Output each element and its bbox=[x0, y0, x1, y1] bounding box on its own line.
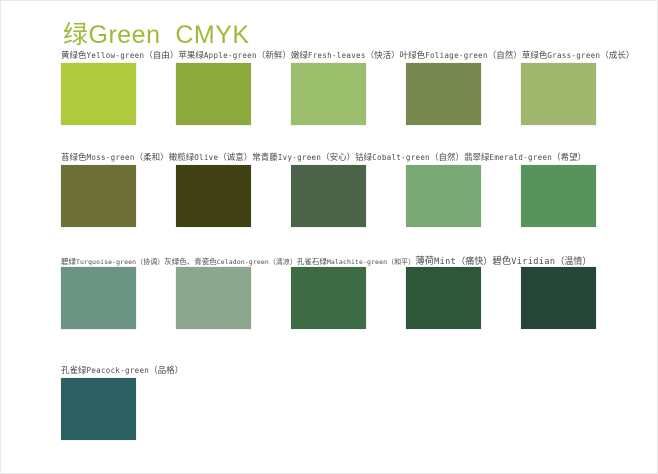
color-keyword: （自由） bbox=[144, 51, 178, 61]
color-keyword: （快活） bbox=[366, 51, 400, 61]
color-swatch[interactable] bbox=[61, 63, 136, 125]
color-keyword: （痛快） bbox=[456, 257, 492, 267]
color-name-en: Foliage-green bbox=[425, 51, 488, 60]
palette-row-labels: 孔雀绿Peacock-green（品格） bbox=[61, 364, 183, 378]
color-swatch[interactable] bbox=[291, 165, 366, 227]
color-label: 翡翠绿Emerald-green（希望） bbox=[464, 151, 586, 163]
color-swatch[interactable] bbox=[521, 63, 596, 125]
color-swatch[interactable] bbox=[291, 63, 366, 125]
color-keyword: （品格） bbox=[149, 366, 183, 376]
color-swatch[interactable] bbox=[61, 378, 136, 440]
color-keyword: （安心） bbox=[321, 153, 355, 163]
color-keyword: （新鲜） bbox=[257, 51, 291, 61]
palette-row-labels: 苔绿色Moss-green（柔和）橄榄绿Olive（诚意）常青藤Ivy-gree… bbox=[61, 151, 586, 165]
color-label: 黄绿色Yellow-green（自由） bbox=[61, 49, 178, 61]
palette-row-labels: 黄绿色Yellow-green（自由）苹果绿Apple-green（新鲜）嫩绿F… bbox=[61, 49, 634, 63]
color-label: 橄榄绿Olive（诚意） bbox=[169, 151, 253, 163]
color-name-cn: 嫩绿 bbox=[291, 51, 308, 61]
color-name-cn: 碧色 bbox=[492, 256, 511, 267]
color-keyword: （诚意） bbox=[218, 153, 252, 163]
color-name-en: Emerald-green bbox=[490, 153, 553, 162]
color-name-cn: 橄榄绿 bbox=[169, 153, 195, 163]
color-keyword: （和平） bbox=[387, 258, 415, 266]
color-name-cn: 叶绿色 bbox=[400, 51, 426, 61]
color-swatch[interactable] bbox=[176, 63, 251, 125]
color-keyword: （成长） bbox=[600, 51, 634, 61]
color-label: 常青藤Ivy-green（安心） bbox=[252, 151, 355, 163]
color-label: 孔雀石绿Malachite-green（和平） bbox=[297, 256, 415, 267]
color-label: 草绿色Grass-green（成长） bbox=[522, 49, 635, 61]
color-name-cn: 苔绿色 bbox=[61, 153, 87, 163]
palette-row-swatches bbox=[61, 165, 641, 227]
color-keyword: （希望） bbox=[552, 153, 586, 163]
color-swatch[interactable] bbox=[406, 267, 481, 329]
color-name-cn: 灰绿色、青瓷色 bbox=[164, 257, 217, 266]
color-name-cn: 碧绿 bbox=[61, 257, 76, 266]
color-name-en: Malachite-green bbox=[327, 258, 387, 266]
color-label: 苔绿色Moss-green（柔和） bbox=[61, 151, 169, 163]
color-keyword: （温情） bbox=[555, 257, 591, 267]
color-keyword: （自然） bbox=[488, 51, 522, 61]
color-swatch[interactable] bbox=[521, 267, 596, 329]
color-name-en: Yellow-green bbox=[87, 51, 145, 60]
palette-row-labels: 碧绿Turquoise-green（协调）灰绿色、青瓷色Celadon-gree… bbox=[61, 253, 591, 267]
color-label: 灰绿色、青瓷色Celadon-green（清凉） bbox=[164, 256, 297, 267]
color-name-en: Moss-green bbox=[87, 153, 135, 162]
color-name-cn: 薄荷 bbox=[415, 256, 434, 267]
color-name-en: Grass-green bbox=[547, 51, 600, 60]
color-swatch[interactable] bbox=[406, 165, 481, 227]
color-label: 嫩绿Fresh-leaves（快活） bbox=[291, 49, 400, 61]
color-swatch[interactable] bbox=[406, 63, 481, 125]
color-name-cn: 翡翠绿 bbox=[464, 153, 490, 163]
color-label: 苹果绿Apple-green（新鲜） bbox=[178, 49, 291, 61]
color-swatch[interactable] bbox=[61, 267, 136, 329]
color-name-en: Olive bbox=[194, 153, 218, 162]
palette-row-swatches bbox=[61, 267, 641, 329]
color-name-cn: 孔雀石绿 bbox=[297, 257, 327, 266]
palette-row-swatches bbox=[61, 63, 641, 125]
color-keyword: （柔和） bbox=[135, 153, 169, 163]
color-name-en: Apple-green bbox=[204, 51, 257, 60]
color-name-en: Mint bbox=[434, 257, 456, 267]
color-name-cn: 孔雀绿 bbox=[61, 366, 87, 376]
color-name-cn: 常青藤 bbox=[252, 153, 278, 163]
color-name-en: Fresh-leaves bbox=[308, 51, 366, 60]
color-label: 叶绿色Foliage-green（自然） bbox=[400, 49, 522, 61]
color-name-cn: 草绿色 bbox=[522, 51, 548, 61]
color-label: 碧绿Turquoise-green（协调） bbox=[61, 256, 164, 267]
color-name-en: Turquoise-green bbox=[76, 258, 136, 266]
color-name-cn: 苹果绿 bbox=[178, 51, 204, 61]
color-swatch[interactable] bbox=[61, 165, 136, 227]
color-name-en: Peacock-green bbox=[87, 366, 150, 375]
color-swatch[interactable] bbox=[176, 267, 251, 329]
color-name-en: Cobalt-green bbox=[372, 153, 430, 162]
color-label: 薄荷Mint（痛快） bbox=[415, 253, 492, 267]
palette-row-swatches bbox=[61, 378, 641, 440]
color-keyword: （协调） bbox=[136, 258, 164, 266]
page-title: 绿Green CMYK bbox=[63, 15, 250, 51]
color-name-en: Ivy-green bbox=[278, 153, 321, 162]
color-label: 孔雀绿Peacock-green（品格） bbox=[61, 364, 183, 376]
color-name-en: Celadon-green bbox=[217, 258, 269, 266]
color-name-cn: 黄绿色 bbox=[61, 51, 87, 61]
color-keyword: （清凉） bbox=[269, 258, 297, 266]
color-swatch[interactable] bbox=[521, 165, 596, 227]
color-swatch[interactable] bbox=[176, 165, 251, 227]
color-swatch[interactable] bbox=[291, 267, 366, 329]
color-name-cn: 钴绿 bbox=[355, 153, 372, 163]
color-label: 钴绿Cobalt-green（自然） bbox=[355, 151, 464, 163]
color-label: 碧色Viridian（温情） bbox=[492, 253, 591, 267]
color-palette-page: 绿Green CMYK 黄绿色Yellow-green（自由）苹果绿Apple-… bbox=[0, 0, 658, 474]
color-name-en: Viridian bbox=[511, 257, 555, 267]
color-keyword: （自然） bbox=[430, 153, 464, 163]
